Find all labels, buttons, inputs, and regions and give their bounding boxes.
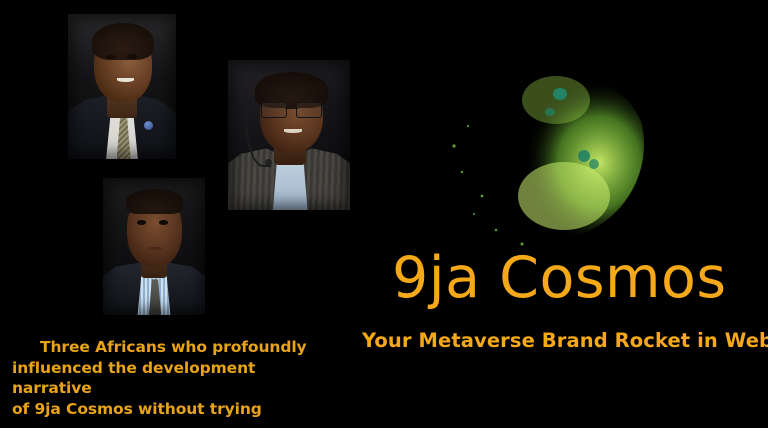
portrait-3-eye-right: [159, 220, 168, 224]
portrait-2-microphone: [265, 159, 272, 166]
portrait-1-lapel-pin: [144, 121, 153, 130]
eyeglass-lens-right: [296, 102, 322, 118]
portrait-photo-1: [68, 14, 176, 159]
portrait-2-smile: [284, 129, 302, 133]
eyeglass-bridge: [285, 108, 297, 109]
portrait-1-eye-right: [127, 54, 137, 59]
portrait-3-image: [103, 178, 205, 315]
portrait-1-hair: [92, 23, 155, 61]
caption-line-1: Three Africans who profoundly: [12, 337, 332, 358]
portrait-2-image: [228, 60, 350, 210]
portrait-3-hair: [126, 189, 182, 214]
caption-line-3: of 9ja Cosmos without trying: [12, 399, 332, 420]
brand-logo-text: 9ja Cosmos: [392, 243, 722, 313]
halftone-globe-icon: [438, 38, 650, 250]
caption-block: Three Africans who profoundly influenced…: [12, 337, 332, 419]
portrait-1-eye-left: [106, 55, 116, 60]
portrait-photo-3: [103, 178, 205, 315]
portrait-1-image: [68, 14, 176, 159]
brand-tagline: Your Metaverse Brand Rocket in Web 3: [362, 328, 752, 354]
portrait-3-eye-left: [137, 220, 146, 224]
promo-graphic-canvas: 9ja Cosmos Your Metaverse Brand Rocket i…: [0, 0, 768, 428]
portrait-3-mouth: [148, 247, 162, 250]
caption-line-2: influenced the development narrative: [12, 358, 332, 399]
portrait-photo-2: [228, 60, 350, 210]
